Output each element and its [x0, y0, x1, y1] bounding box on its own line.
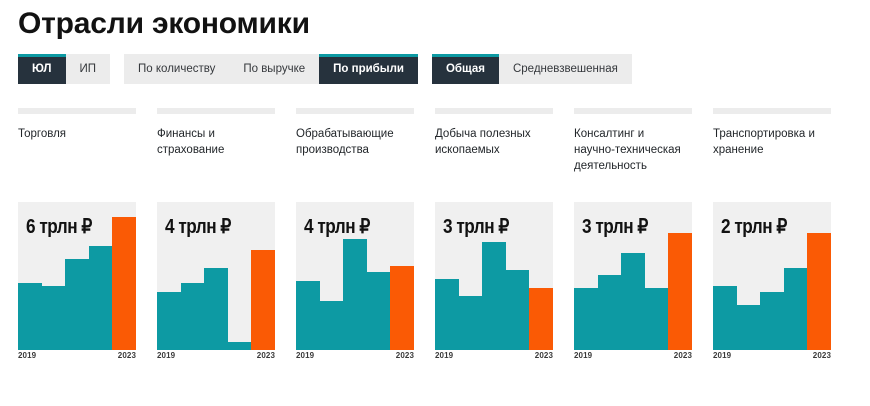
axis-segment-teal: [713, 347, 807, 350]
axis-segment-orange: [390, 347, 414, 350]
industry-card[interactable]: Транспортировка и хранение2 трлн ₽201920…: [713, 108, 852, 365]
axis-tick-labels: 20192023: [713, 351, 831, 360]
industry-card[interactable]: Добыча полезных ископаемых3 трлн ₽201920…: [435, 108, 574, 365]
bar-2020: [181, 283, 205, 347]
card-title: Добыча полезных ископаемых: [435, 126, 545, 202]
card-chart: 3 трлн ₽: [574, 202, 692, 347]
card-chart: 4 трлн ₽: [157, 202, 275, 347]
button-group-entity-type: ЮЛИП: [18, 54, 110, 84]
card-title: Транспортировка и хранение: [713, 126, 823, 202]
axis-segment-teal: [296, 347, 390, 350]
bar-2021: [65, 259, 89, 347]
filter-button-metric-1[interactable]: По выручке: [229, 54, 319, 84]
bar-2021: [482, 242, 506, 347]
bar-2019: [157, 292, 181, 347]
bar-2019: [713, 286, 737, 348]
card-divider: [713, 108, 831, 114]
industry-card[interactable]: Обрабатывающие производства4 трлн ₽20192…: [296, 108, 435, 365]
chart-value-label: 4 трлн ₽: [304, 214, 370, 239]
bar-2019: [296, 281, 320, 347]
axis-tick-label: 2023: [813, 351, 831, 360]
card-chart: 3 трлн ₽: [435, 202, 553, 347]
chart-value-label: 3 трлн ₽: [443, 214, 509, 239]
bar-2022: [506, 270, 530, 347]
axis-tick-label: 2019: [713, 351, 731, 360]
page-title: Отрасли экономики: [18, 6, 852, 42]
chart-value-label: 3 трлн ₽: [582, 214, 648, 239]
bar-2022: [645, 288, 669, 347]
bar-2020: [459, 296, 483, 347]
axis-segment-teal: [157, 347, 251, 350]
industry-card[interactable]: Финансы и страхование4 трлн ₽20192023: [157, 108, 296, 365]
axis-tick-label: 2019: [157, 351, 175, 360]
bar-2023: [668, 233, 692, 347]
bar-2023: [112, 217, 136, 347]
filter-button-aggregation-0[interactable]: Общая: [432, 54, 499, 84]
axis-tick-label: 2023: [118, 351, 136, 360]
bar-2020: [737, 305, 761, 347]
card-chart: 6 трлн ₽: [18, 202, 136, 347]
filter-button-entity-type-0[interactable]: ЮЛ: [18, 54, 66, 84]
axis-segment-teal: [435, 347, 529, 350]
axis-tick-labels: 20192023: [18, 351, 136, 360]
chart-axis: 20192023: [157, 347, 275, 365]
axis-line: [435, 347, 553, 350]
button-group-aggregation: ОбщаяСредневзвешенная: [432, 54, 632, 84]
bar-2022: [367, 272, 391, 347]
chart-value-label: 6 трлн ₽: [26, 214, 92, 239]
axis-tick-labels: 20192023: [296, 351, 414, 360]
card-divider: [574, 108, 692, 114]
bar-2021: [204, 268, 228, 347]
axis-tick-label: 2019: [18, 351, 36, 360]
bar-2022: [89, 246, 113, 347]
bar-2022: [784, 268, 808, 347]
axis-line: [157, 347, 275, 350]
axis-segment-orange: [668, 347, 692, 350]
filter-button-metric-0[interactable]: По количеству: [124, 54, 229, 84]
filter-button-metric-2[interactable]: По прибыли: [319, 54, 418, 84]
axis-segment-teal: [18, 347, 112, 350]
chart-axis: 20192023: [18, 347, 136, 365]
axis-tick-label: 2019: [574, 351, 592, 360]
chart-axis: 20192023: [296, 347, 414, 365]
industry-card[interactable]: Консалтинг и научно-техническая деятельн…: [574, 108, 713, 365]
chart-value-label: 2 трлн ₽: [721, 214, 787, 239]
chart-axis: 20192023: [713, 347, 831, 365]
axis-tick-label: 2019: [296, 351, 314, 360]
axis-line: [574, 347, 692, 350]
axis-tick-label: 2023: [396, 351, 414, 360]
card-chart: 2 трлн ₽: [713, 202, 831, 347]
card-divider: [296, 108, 414, 114]
axis-line: [713, 347, 831, 350]
card-title: Консалтинг и научно-техническая деятельн…: [574, 126, 684, 202]
card-title: Финансы и страхование: [157, 126, 267, 202]
axis-tick-label: 2023: [535, 351, 553, 360]
filters-toolbar: ЮЛИППо количествуПо выручкеПо прибылиОбщ…: [18, 54, 852, 84]
axis-tick-label: 2023: [257, 351, 275, 360]
bar-2020: [598, 275, 622, 348]
axis-line: [296, 347, 414, 350]
axis-tick-labels: 20192023: [435, 351, 553, 360]
bar-2019: [435, 279, 459, 347]
industry-card[interactable]: Торговля6 трлн ₽20192023: [18, 108, 157, 365]
axis-tick-labels: 20192023: [574, 351, 692, 360]
axis-tick-labels: 20192023: [157, 351, 275, 360]
bar-2022: [228, 342, 252, 347]
filter-button-entity-type-1[interactable]: ИП: [66, 54, 111, 84]
card-divider: [435, 108, 553, 114]
card-chart: 4 трлн ₽: [296, 202, 414, 347]
card-title: Торговля: [18, 126, 128, 202]
bar-2023: [807, 233, 831, 347]
card-divider: [157, 108, 275, 114]
axis-segment-teal: [574, 347, 668, 350]
bar-2019: [18, 283, 42, 347]
filter-button-aggregation-1[interactable]: Средневзвешенная: [499, 54, 632, 84]
axis-segment-orange: [529, 347, 553, 350]
chart-axis: 20192023: [435, 347, 553, 365]
bar-2023: [251, 250, 275, 347]
bar-2020: [42, 286, 66, 348]
chart-axis: 20192023: [574, 347, 692, 365]
axis-segment-orange: [807, 347, 831, 350]
axis-tick-label: 2019: [435, 351, 453, 360]
axis-segment-orange: [112, 347, 136, 350]
bar-2019: [574, 288, 598, 347]
axis-line: [18, 347, 136, 350]
bar-2020: [320, 301, 344, 347]
axis-segment-orange: [251, 347, 275, 350]
button-group-metric: По количествуПо выручкеПо прибыли: [124, 54, 418, 84]
card-title: Обрабатывающие производства: [296, 126, 406, 202]
bar-2021: [760, 292, 784, 347]
bar-2023: [529, 288, 553, 347]
card-divider: [18, 108, 136, 114]
axis-tick-label: 2023: [674, 351, 692, 360]
bar-2023: [390, 266, 414, 347]
page-root: Отрасли экономики ЮЛИППо количествуПо вы…: [0, 6, 870, 406]
chart-value-label: 4 трлн ₽: [165, 214, 231, 239]
bar-2021: [343, 239, 367, 347]
bar-2021: [621, 253, 645, 347]
industry-cards: Торговля6 трлн ₽20192023Финансы и страхо…: [18, 108, 852, 365]
